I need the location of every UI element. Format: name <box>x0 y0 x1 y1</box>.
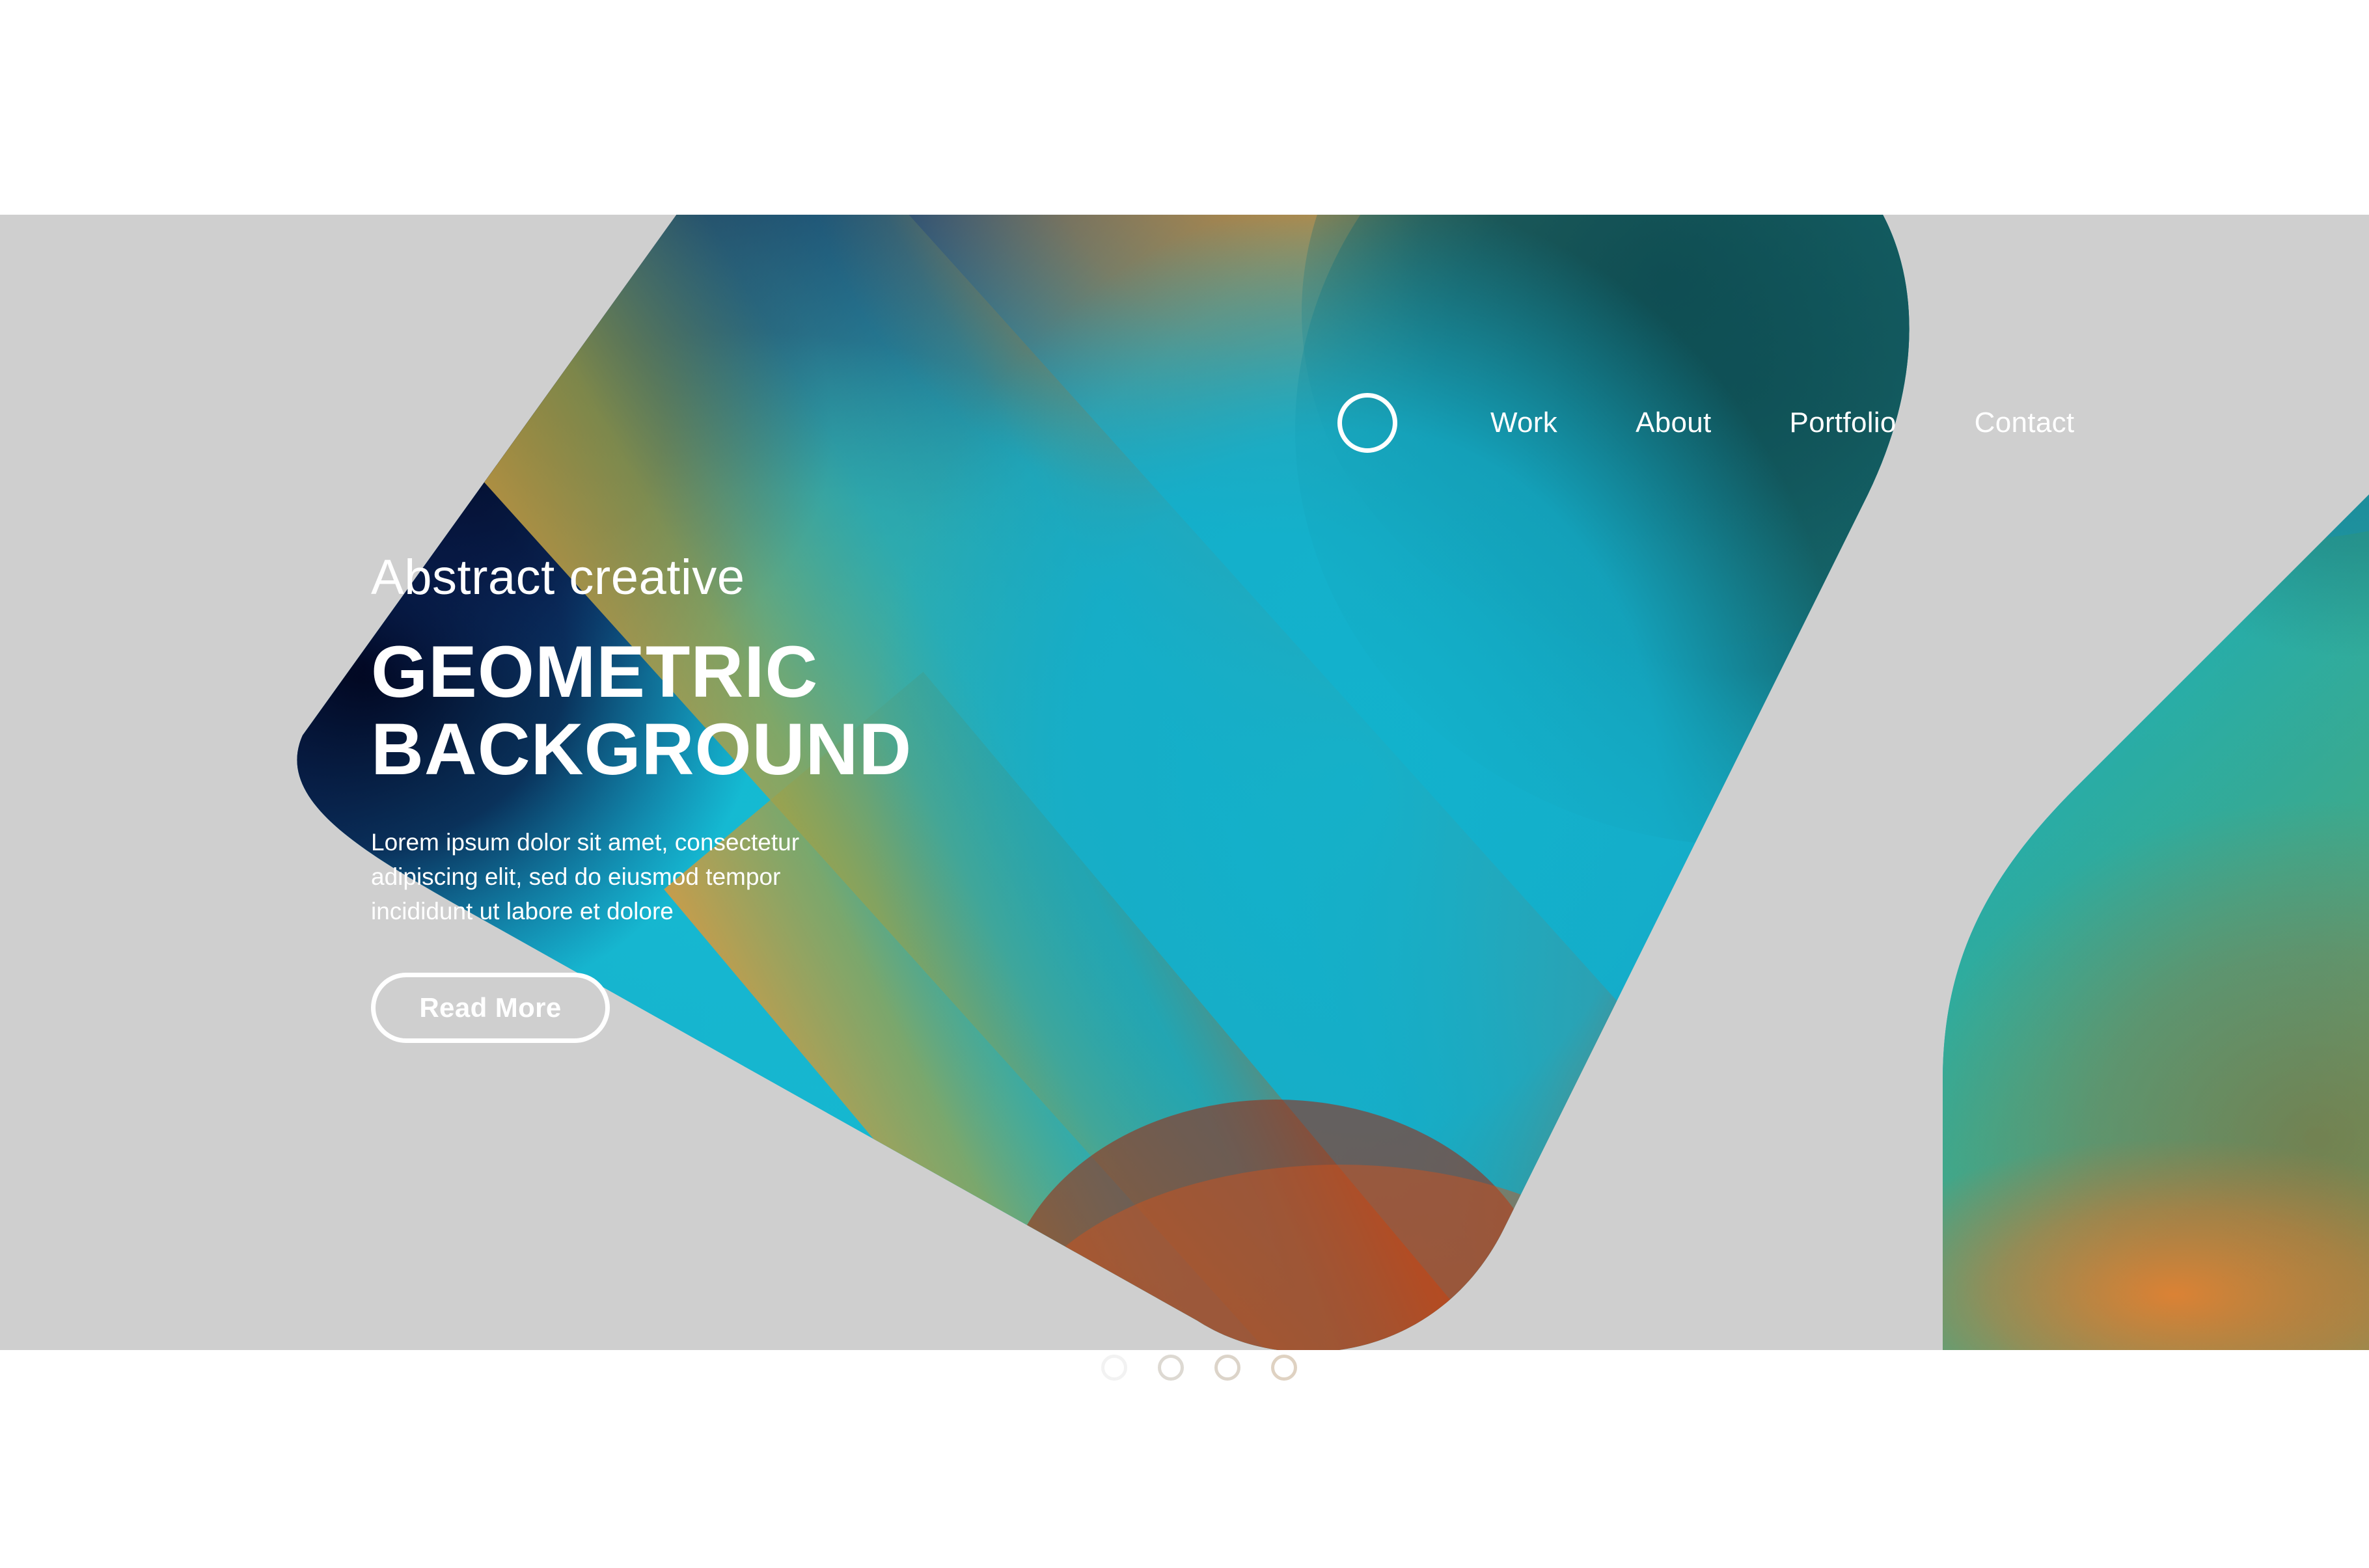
hero-headline-line-2: BACKGROUND <box>371 711 1347 789</box>
circle-logo-icon[interactable] <box>1337 393 1397 453</box>
hero-subcopy-line-2: adipiscing elit, sed do eiusmod tempor <box>371 860 866 895</box>
pagination-dot-2[interactable] <box>1101 1355 1127 1381</box>
hero-eyebrow: Abstract creative <box>371 553 1347 602</box>
landing-page-canvas: Work About Portfolio Contact Abstract cr… <box>0 0 2369 1568</box>
pagination-dot-1[interactable] <box>1045 1355 1071 1381</box>
pagination-dot-4[interactable] <box>1214 1355 1240 1381</box>
main-navigation: Work About Portfolio Contact <box>1337 390 2074 455</box>
pagination-dot-3[interactable] <box>1158 1355 1184 1381</box>
pagination-dot-5[interactable] <box>1271 1355 1297 1381</box>
slider-pagination <box>1045 1355 1297 1381</box>
nav-link-list: Work About Portfolio Contact <box>1490 409 2074 437</box>
hero-headline-line-1: GEOMETRIC <box>371 634 1347 711</box>
hero-subcopy-line-1: Lorem ipsum dolor sit amet, consectetur <box>371 826 866 860</box>
nav-link-contact[interactable]: Contact <box>1975 409 2075 437</box>
hero-text-block: Abstract creative GEOMETRIC BACKGROUND L… <box>371 553 1347 1043</box>
hero-subcopy-line-3: incididunt ut labore et dolore <box>371 895 866 929</box>
hero-headline: GEOMETRIC BACKGROUND <box>371 634 1347 788</box>
nav-link-portfolio[interactable]: Portfolio <box>1790 409 1897 437</box>
hero-subcopy: Lorem ipsum dolor sit amet, consectetur … <box>371 826 866 928</box>
read-more-button[interactable]: Read More <box>371 973 610 1043</box>
nav-link-about[interactable]: About <box>1636 409 1711 437</box>
nav-link-work[interactable]: Work <box>1490 409 1557 437</box>
